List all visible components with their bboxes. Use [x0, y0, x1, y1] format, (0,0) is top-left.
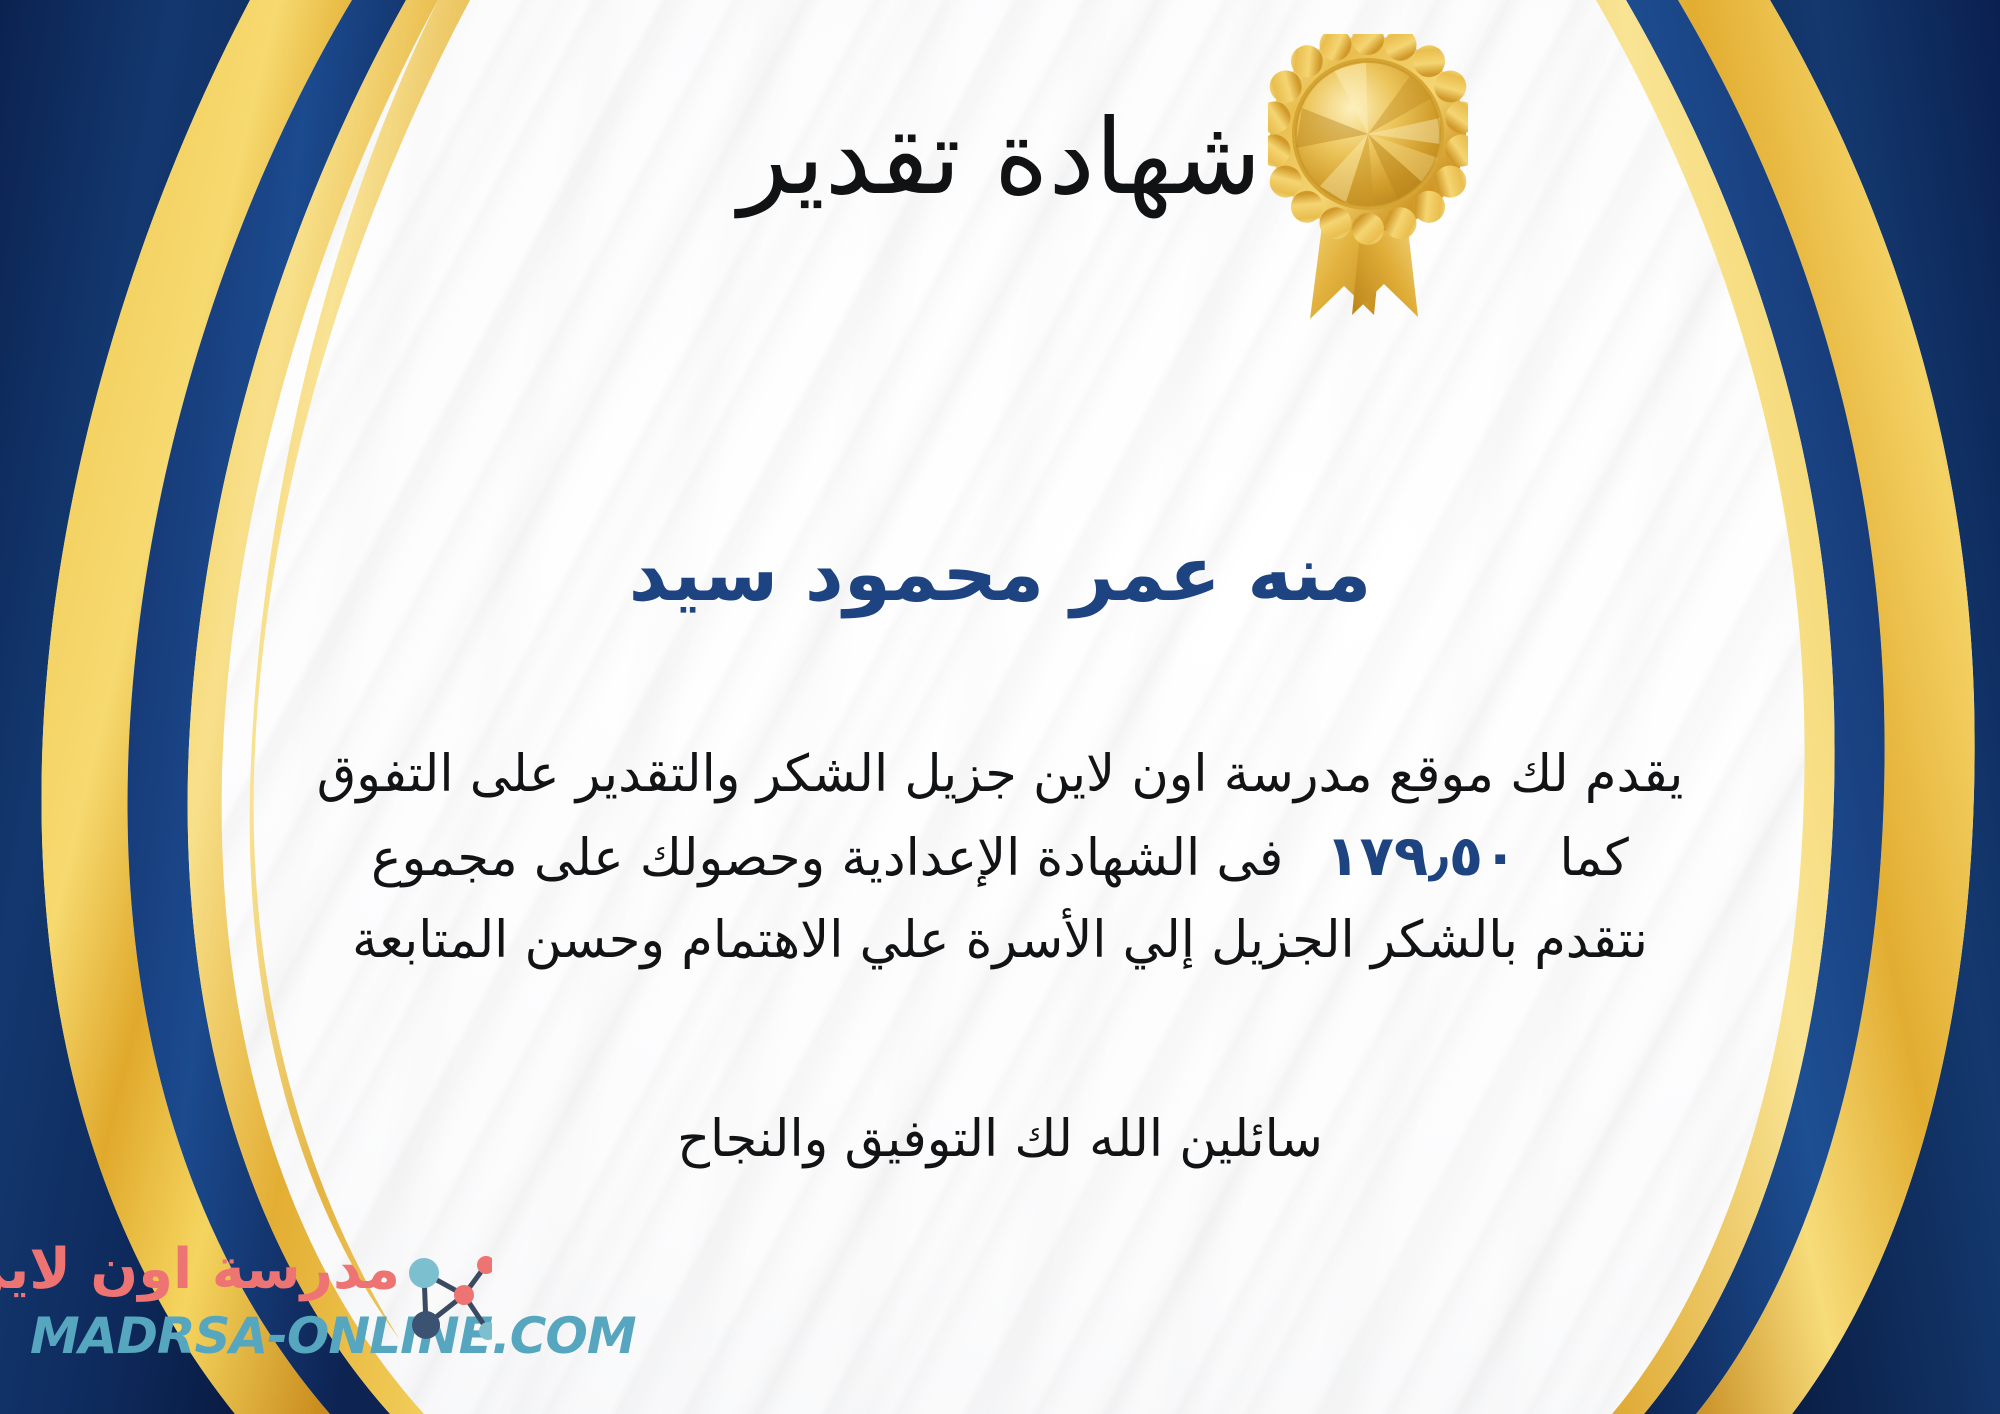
body-line-2: كما ١٧٩٫٥٠ فى الشهادة الإعدادية وحصولك ع…	[40, 814, 1960, 901]
recipient-name: منه عمر محمود سيد	[0, 528, 2000, 619]
network-nodes-icon	[400, 1243, 492, 1351]
certificate-page: شهادة تقدير منه عمر محمود سيد يقدم لك مو…	[0, 0, 2000, 1414]
body-line-1: يقدم لك موقع مدرسة اون لاين جزيل الشكر و…	[40, 735, 1960, 814]
brand-name-arabic: مدرسة اون لاين	[0, 1237, 400, 1302]
closing-line: سائلين الله لك التوفيق والنجاح	[0, 1110, 2000, 1169]
body-line-2-before: فى الشهادة الإعدادية وحصولك على مجموع	[371, 829, 1283, 888]
brand-logo[interactable]: مدرسة اون لاين MADRSA-ONLINE.COM	[22, 1235, 492, 1380]
body-line-3: نتقدم بالشكر الجزيل إلي الأسرة علي الاهت…	[40, 901, 1960, 980]
brand-website: MADRSA-ONLINE.COM	[30, 1307, 636, 1365]
score-value: ١٧٩٫٥٠	[1299, 824, 1543, 889]
certificate-title: شهادة تقدير	[0, 100, 2000, 214]
body-line-2-after: كما	[1560, 829, 1629, 888]
certificate-body: يقدم لك موقع مدرسة اون لاين جزيل الشكر و…	[40, 735, 1960, 980]
